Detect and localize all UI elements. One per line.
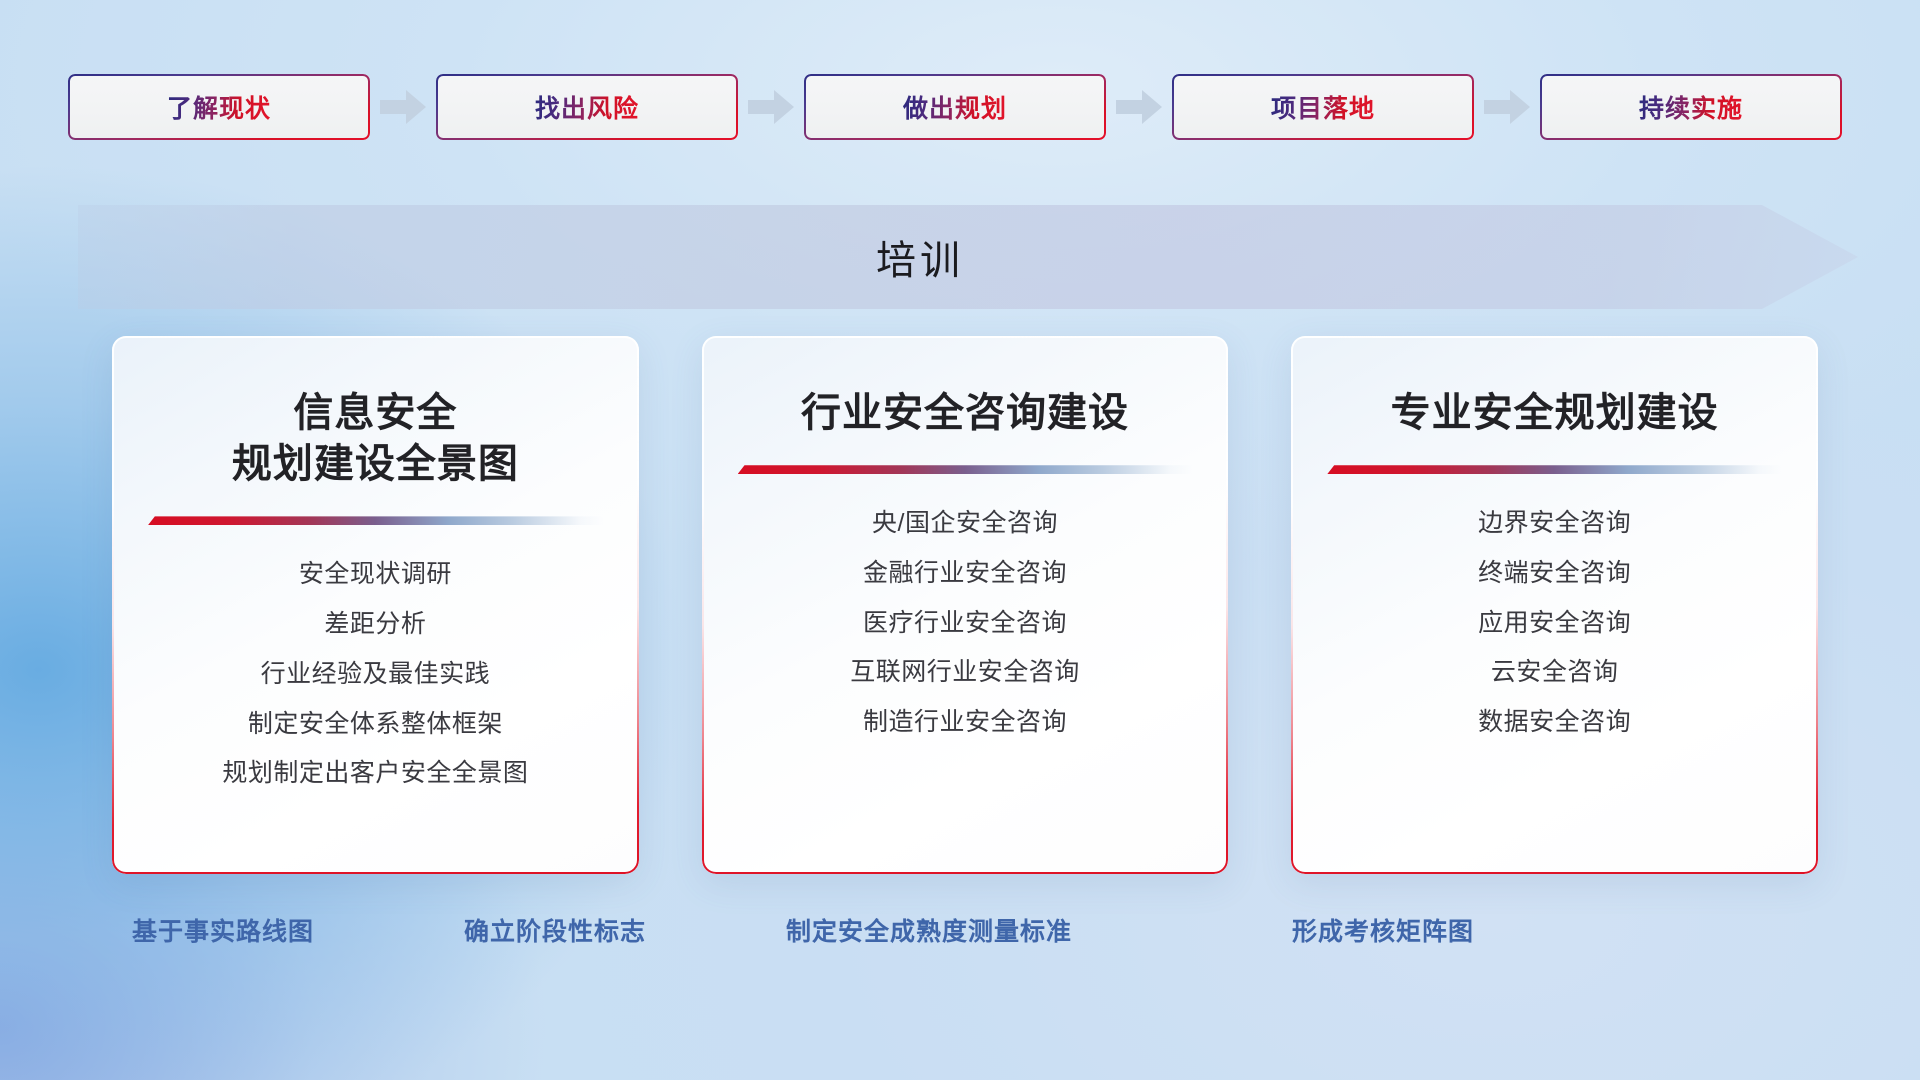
list-item: 规划制定出客户安全全景图: [222, 754, 528, 793]
list-item: 边界安全咨询: [1478, 504, 1631, 543]
arrow-right-icon: [1106, 87, 1172, 127]
list-item: 互联网行业安全咨询: [850, 653, 1080, 692]
card-divider: [1327, 465, 1782, 474]
footer-label-4: 形成考核矩阵图: [1292, 912, 1474, 948]
card-item-list: 边界安全咨询 终端安全咨询 应用安全咨询 云安全咨询 数据安全咨询: [1325, 504, 1784, 742]
step-box-5[interactable]: 持续实施: [1540, 74, 1842, 140]
step-box-4[interactable]: 项目落地: [1172, 74, 1474, 140]
card-divider-wrap: [1325, 465, 1784, 474]
list-item: 差距分析: [324, 605, 426, 644]
step-box-1[interactable]: 了解现状: [68, 74, 370, 140]
card-title: 行业安全咨询建设: [736, 388, 1195, 439]
step-box-3[interactable]: 做出规划: [804, 74, 1106, 140]
list-item: 医疗行业安全咨询: [863, 604, 1067, 643]
training-banner: 培训: [78, 205, 1858, 309]
card-industry-security-consulting[interactable]: 行业安全咨询建设 央/国企安全咨询 金融行业安全咨询 医疗行业安全咨询 互联网行…: [702, 336, 1229, 874]
arrow-right-icon: [738, 87, 804, 127]
card-information-security-blueprint[interactable]: 信息安全 规划建设全景图 安全现状调研 差距分析 行业经验及最佳实践 制定安全体…: [112, 336, 639, 874]
list-item: 安全现状调研: [299, 555, 452, 594]
list-item: 制造行业安全咨询: [863, 703, 1067, 742]
card-title: 信息安全 规划建设全景图: [146, 388, 605, 490]
list-item: 央/国企安全咨询: [872, 504, 1058, 543]
process-step-flow: 了解现状 找出风险 做出规划 项目落地 持续实施: [68, 72, 1852, 142]
step-label: 找出风险: [535, 89, 639, 125]
card-divider: [148, 516, 603, 525]
footer-label-3: 制定安全成熟度测量标准: [786, 912, 1072, 948]
card-item-list: 央/国企安全咨询 金融行业安全咨询 医疗行业安全咨询 互联网行业安全咨询 制造行…: [736, 504, 1195, 742]
footer-label-1: 基于事实路线图: [132, 912, 314, 948]
list-item: 制定安全体系整体框架: [248, 705, 503, 744]
card-divider-wrap: [736, 465, 1195, 474]
card-item-list: 安全现状调研 差距分析 行业经验及最佳实践 制定安全体系整体框架 规划制定出客户…: [146, 555, 605, 793]
card-professional-security-planning[interactable]: 专业安全规划建设 边界安全咨询 终端安全咨询 应用安全咨询 云安全咨询 数据安全…: [1291, 336, 1818, 874]
step-box-2[interactable]: 找出风险: [436, 74, 738, 140]
list-item: 数据安全咨询: [1478, 703, 1631, 742]
step-label: 项目落地: [1271, 89, 1375, 125]
card-title: 专业安全规划建设: [1325, 388, 1784, 439]
list-item: 行业经验及最佳实践: [261, 655, 491, 694]
card-row: 信息安全 规划建设全景图 安全现状调研 差距分析 行业经验及最佳实践 制定安全体…: [112, 336, 1818, 874]
card-divider: [738, 465, 1193, 474]
step-label: 了解现状: [167, 89, 271, 125]
step-label: 持续实施: [1639, 89, 1743, 125]
list-item: 终端安全咨询: [1478, 554, 1631, 593]
footer-label-2: 确立阶段性标志: [464, 912, 646, 948]
list-item: 云安全咨询: [1491, 653, 1619, 692]
slide-canvas: 了解现状 找出风险 做出规划 项目落地 持续实施 培训: [0, 0, 1920, 1080]
arrow-right-icon: [370, 87, 436, 127]
banner-title: 培训: [78, 205, 1762, 309]
list-item: 金融行业安全咨询: [863, 554, 1067, 593]
footer-label-row: 基于事实路线图 确立阶段性标志 制定安全成熟度测量标准 形成考核矩阵图: [0, 912, 1920, 966]
arrow-right-icon: [1474, 87, 1540, 127]
card-divider-wrap: [146, 516, 605, 525]
step-label: 做出规划: [903, 89, 1007, 125]
list-item: 应用安全咨询: [1478, 604, 1631, 643]
